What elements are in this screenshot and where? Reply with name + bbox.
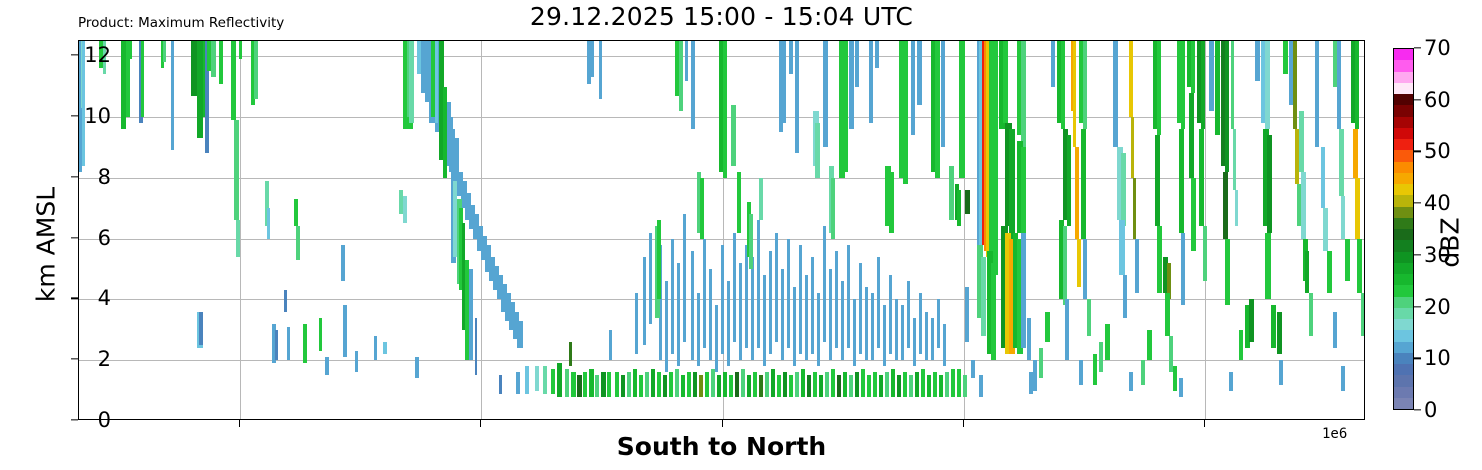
y-tick-label: 10 [84, 104, 111, 128]
reflectivity-cell [841, 281, 844, 360]
reflectivity-cell [715, 305, 718, 372]
y-tick-mark [71, 359, 78, 360]
reflectivity-cell [877, 257, 880, 348]
reflectivity-cell [751, 257, 754, 360]
reflectivity-cell [303, 324, 307, 364]
reflectivity-cell [516, 372, 520, 393]
reflectivity-cell [1225, 239, 1230, 306]
reflectivity-cell [415, 357, 419, 378]
reflectivity-cell [849, 375, 853, 396]
reflectivity-cell [721, 245, 724, 354]
reflectivity-cell [691, 251, 694, 360]
reflectivity-cell [1051, 41, 1055, 87]
reflectivity-cell [1065, 299, 1069, 360]
reflectivity-cell [1265, 233, 1271, 300]
reflectivity-cell [917, 41, 922, 105]
reflectivity-cell [911, 41, 915, 135]
colorbar-tick-mark [1414, 358, 1421, 359]
colorbar-segment [1394, 194, 1413, 206]
reflectivity-cell [583, 372, 587, 396]
y-tick-label: 4 [98, 286, 111, 310]
reflectivity-cell [1155, 135, 1160, 226]
reflectivity-cell [1215, 41, 1220, 135]
reflectivity-cell [1093, 354, 1097, 384]
page-title: 29.12.2025 15:00 - 15:04 UTC [78, 2, 1365, 31]
reflectivity-cell [129, 41, 132, 59]
colorbar-segment [1394, 329, 1413, 341]
x-tick-mark [722, 420, 723, 427]
reflectivity-cell [1129, 41, 1133, 117]
reflectivity-cell [727, 281, 730, 366]
reflectivity-cell [681, 375, 685, 396]
reflectivity-cell [737, 172, 741, 233]
reflectivity-cell [835, 251, 838, 348]
reflectivity-cell [1067, 135, 1071, 226]
reflectivity-cell [383, 342, 387, 354]
reflectivity-cell [657, 220, 661, 299]
reflectivity-cell [1239, 330, 1243, 360]
reflectivity-cell [865, 287, 868, 360]
reflectivity-cell [933, 372, 937, 396]
reflectivity-cell [234, 120, 239, 220]
colorbar-segment [1394, 363, 1413, 375]
reflectivity-cell [889, 172, 894, 233]
colorbar-segment [1394, 307, 1413, 319]
reflectivity-cell [517, 321, 523, 348]
colorbar-tick-label: 10 [1424, 346, 1451, 370]
reflectivity-cell [1361, 293, 1365, 336]
reflectivity-cell [829, 269, 832, 360]
reflectivity-cell [745, 245, 748, 348]
reflectivity-cell [759, 178, 763, 221]
x-tick-mark [239, 420, 240, 427]
reflectivity-cell [1323, 208, 1328, 251]
reflectivity-cell [753, 372, 757, 396]
reflectivity-cell [254, 41, 258, 99]
reflectivity-cell [1087, 299, 1091, 335]
reflectivity-cell [951, 369, 955, 396]
reflectivity-cell [1099, 342, 1103, 372]
colorbar-segment [1394, 149, 1413, 161]
reflectivity-cell [294, 199, 298, 226]
reflectivity-cell [945, 372, 949, 396]
reflectivity-cell [1009, 129, 1015, 238]
x-axis-label: South to North [78, 432, 1365, 461]
reflectivity-cell [1301, 172, 1306, 239]
colorbar-segment [1394, 48, 1413, 60]
colorbar-segment [1394, 295, 1413, 307]
reflectivity-cell [959, 41, 965, 178]
reflectivity-cell [1181, 233, 1185, 306]
reflectivity-cell [267, 208, 270, 238]
colorbar-segment [1394, 385, 1413, 397]
reflectivity-cell [236, 220, 240, 256]
reflectivity-cell [805, 275, 808, 360]
reflectivity-cell [981, 257, 986, 336]
reflectivity-cell [855, 372, 859, 396]
reflectivity-cell [879, 375, 883, 396]
reflectivity-cell [1021, 41, 1026, 147]
reflectivity-cell [669, 372, 673, 396]
reflectivity-cell [957, 190, 961, 226]
reflectivity-cell [609, 330, 612, 360]
reflectivity-cell [601, 372, 606, 396]
reflectivity-cell [949, 166, 954, 221]
reflectivity-cell [993, 41, 998, 275]
reflectivity-cell [607, 372, 611, 396]
reflectivity-cell [831, 178, 835, 239]
colorbar-segment [1394, 93, 1413, 105]
reflectivity-cell [859, 263, 862, 354]
reflectivity-cell [979, 375, 983, 396]
reflectivity-cell [599, 41, 602, 99]
reflectivity-cell [1073, 41, 1076, 147]
reflectivity-cell [665, 281, 668, 372]
reflectivity-cell [781, 269, 784, 360]
reflectivity-cell [757, 220, 760, 348]
colorbar-segment [1394, 318, 1413, 330]
reflectivity-cell [1033, 360, 1037, 390]
reflectivity-cell [1209, 41, 1214, 111]
reflectivity-cell [296, 226, 300, 259]
reflectivity-cell [793, 287, 796, 366]
reflectivity-cell [849, 41, 854, 129]
colorbar-segment [1394, 138, 1413, 150]
reflectivity-cell [643, 257, 646, 345]
colorbar-segment [1394, 228, 1413, 240]
colorbar-segment [1394, 205, 1413, 217]
reflectivity-cell [1333, 312, 1337, 348]
colorbar-segment [1394, 59, 1413, 71]
reflectivity-cell [1191, 41, 1195, 93]
reflectivity-cell [903, 372, 907, 396]
reflectivity-cell [1147, 330, 1152, 360]
reflectivity-cell [1199, 129, 1204, 226]
reflectivity-cell [633, 369, 637, 396]
reflectivity-cell [1027, 318, 1031, 361]
reflectivity-cell [699, 375, 703, 396]
reflectivity-cell [935, 41, 940, 178]
reflectivity-cell [435, 41, 438, 123]
reflectivity-cell [1029, 372, 1033, 393]
reflectivity-cell [569, 342, 572, 366]
y-tick-label: 8 [98, 165, 111, 189]
reflectivity-cell [783, 41, 786, 123]
reflectivity-cell [1179, 129, 1184, 232]
reflectivity-cell [219, 41, 223, 84]
colorbar-segment [1394, 397, 1413, 409]
reflectivity-cell [1189, 93, 1194, 178]
reflectivity-cell [771, 369, 775, 396]
reflectivity-cell [287, 327, 290, 360]
reflectivity-cell [919, 293, 922, 354]
y-tick-label: 0 [98, 408, 111, 432]
reflectivity-cell [1265, 41, 1270, 129]
reflectivity-cell [475, 318, 477, 376]
colorbar-segment [1394, 82, 1413, 94]
reflectivity-cell [901, 305, 904, 360]
colorbar-tick-mark [1414, 254, 1421, 255]
reflectivity-cell [1201, 41, 1205, 129]
reflectivity-cell [1075, 147, 1079, 238]
reflectivity-cell [965, 190, 970, 214]
reflectivity-cell [231, 41, 236, 120]
reflectivity-cell [811, 257, 814, 354]
reflectivity-cell [341, 245, 345, 281]
reflectivity-cell [1315, 41, 1319, 147]
reflectivity-cell [903, 41, 908, 184]
reflectivity-cell [1157, 226, 1162, 293]
reflectivity-cell [355, 351, 358, 372]
reflectivity-cell [733, 233, 736, 342]
colorbar-segment [1394, 127, 1413, 139]
reflectivity-cell [711, 369, 715, 396]
reflectivity-cell [1077, 239, 1081, 288]
reflectivity-cell [789, 41, 793, 74]
reflectivity-cell [663, 375, 667, 396]
reflectivity-cell [939, 375, 943, 396]
y-tick-mark [71, 298, 78, 299]
reflectivity-cell [1113, 41, 1118, 147]
x-tick-mark [1204, 420, 1205, 427]
reflectivity-cell [171, 41, 174, 150]
colorbar-tick-mark [1414, 306, 1421, 307]
reflectivity-cell [565, 369, 569, 396]
reflectivity-cell [469, 269, 473, 360]
reflectivity-cell [1353, 129, 1358, 178]
reflectivity-cell [1045, 312, 1050, 342]
reflectivity-cell [731, 105, 736, 166]
reflectivity-cell [687, 372, 691, 396]
reflectivity-cell [621, 375, 625, 396]
reflectivity-cell [1135, 239, 1139, 294]
colorbar-tick-label: 50 [1424, 139, 1451, 163]
reflectivity-cell [1063, 226, 1067, 305]
reflectivity-cell [941, 41, 945, 147]
reflectivity-cell [535, 366, 539, 390]
y-tick-mark [71, 176, 78, 177]
reflectivity-cell [819, 375, 823, 396]
y-tick-mark [71, 237, 78, 238]
reflectivity-cell [1119, 220, 1125, 275]
reflectivity-cell [817, 293, 820, 366]
reflectivity-cell [591, 41, 594, 77]
reflectivity-cell [705, 372, 709, 396]
reflectivity-cell [913, 318, 916, 367]
radar-reflectivity-figure: Product: Maximum Reflectivity 29.12.2025… [0, 0, 1482, 470]
x-tick-mark [963, 420, 964, 427]
reflectivity-cell [275, 330, 278, 360]
reflectivity-cell [843, 372, 847, 396]
reflectivity-cell [869, 41, 873, 123]
reflectivity-cell [649, 233, 652, 324]
reflectivity-cell [871, 293, 874, 360]
colorbar-tick-mark [1414, 409, 1421, 410]
reflectivity-cell [885, 372, 889, 396]
reflectivity-cell [739, 263, 742, 360]
reflectivity-cell [1299, 111, 1304, 172]
reflectivity-cell [525, 366, 529, 393]
reflectivity-cell [685, 41, 688, 81]
reflectivity-cell [777, 375, 781, 396]
reflectivity-cell [679, 41, 683, 111]
reflectivity-cell [1173, 366, 1177, 390]
colorbar-segment [1394, 273, 1413, 285]
reflectivity-cell [325, 357, 329, 375]
reflectivity-cell [1321, 147, 1325, 208]
reflectivity-cell [1357, 239, 1362, 294]
reflectivity-cell [700, 178, 704, 239]
colorbar-segment [1394, 352, 1413, 364]
reflectivity-cell [873, 372, 877, 396]
reflectivity-cell [577, 375, 582, 396]
reflectivity-cell [729, 375, 733, 396]
reflectivity-cell [1267, 135, 1272, 232]
reflectivity-cell [1003, 41, 1008, 123]
reflectivity-cell [823, 226, 826, 342]
reflectivity-cell [1229, 372, 1233, 390]
reflectivity-cell [965, 287, 969, 342]
reflectivity-cell [645, 372, 649, 396]
reflectivity-cell [895, 299, 898, 360]
colorbar-segment [1394, 262, 1413, 274]
reflectivity-cell [1341, 366, 1345, 390]
reflectivity-cell [787, 239, 790, 348]
colorbar-tick-label: 20 [1424, 295, 1451, 319]
reflectivity-cell [319, 318, 322, 351]
reflectivity-cell [1179, 378, 1183, 396]
reflectivity-cell [1225, 41, 1229, 172]
colorbar-segment [1394, 160, 1413, 172]
colorbar-segment [1394, 250, 1413, 262]
colorbar-tick-mark [1414, 202, 1421, 203]
reflectivity-cell [735, 372, 739, 396]
reflectivity-cell [783, 372, 787, 396]
reflectivity-cell [991, 263, 996, 360]
reflectivity-cell [1283, 41, 1288, 74]
reflectivity-cell [199, 312, 203, 345]
reflectivity-cell [443, 87, 447, 178]
reflectivity-cell [769, 251, 772, 354]
reflectivity-cell [921, 369, 925, 396]
reflectivity-cell [723, 41, 727, 178]
reflectivity-cell [831, 369, 835, 396]
reflectivity-cell [693, 372, 697, 396]
reflectivity-cell [403, 196, 407, 223]
reflectivity-cell [211, 41, 216, 77]
reflectivity-cell [615, 372, 619, 396]
reflectivity-cell [749, 214, 753, 269]
plot-area [78, 40, 1365, 420]
reflectivity-cell [1255, 41, 1260, 81]
y-tick-label: 12 [84, 43, 111, 67]
reflectivity-cell [639, 375, 643, 396]
reflectivity-cell [675, 369, 679, 396]
reflectivity-cell [1039, 348, 1043, 378]
reflectivity-cell [239, 41, 242, 59]
reflectivity-cell [763, 275, 766, 366]
reflectivity-cell [837, 375, 841, 396]
reflectivity-cell [1141, 360, 1145, 384]
reflectivity-cell [847, 245, 850, 348]
reflectivity-cell [891, 369, 895, 396]
reflectivity-cell [883, 305, 886, 366]
reflectivity-cell [855, 41, 859, 87]
reflectivity-cell [1021, 147, 1026, 238]
reflectivity-cell [927, 375, 931, 396]
reflectivity-cell [163, 41, 166, 62]
reflectivity-cell [651, 369, 655, 396]
reflectivity-cell [925, 312, 928, 361]
reflectivity-cell [775, 233, 778, 342]
reflectivity-cell [1271, 305, 1276, 348]
reflectivity-cell [1191, 178, 1196, 251]
colorbar-tick-label: 70 [1424, 36, 1451, 60]
reflectivity-cell [543, 366, 547, 393]
reflectivity-cell [1345, 239, 1350, 282]
colorbar [1393, 48, 1414, 410]
reflectivity-cell [697, 293, 700, 366]
reflectivity-cell [627, 372, 631, 396]
reflectivity-cell [867, 375, 871, 396]
colorbar-segment [1394, 374, 1413, 386]
reflectivity-cell [1021, 233, 1026, 349]
reflectivity-cell [571, 372, 576, 396]
y-tick-mark [71, 419, 78, 420]
y-tick-label: 2 [98, 347, 111, 371]
y-tick-label: 6 [98, 226, 111, 250]
colorbar-segment [1394, 115, 1413, 127]
reflectivity-cells [79, 41, 1364, 419]
reflectivity-cell [889, 275, 892, 354]
reflectivity-cell [963, 375, 967, 396]
reflectivity-cell [1105, 324, 1110, 360]
colorbar-tick-mark [1414, 151, 1421, 152]
reflectivity-cell [789, 375, 793, 396]
reflectivity-cell [343, 305, 347, 357]
reflectivity-cell [1083, 239, 1087, 300]
reflectivity-cell [1231, 41, 1234, 129]
colorbar-tick-label: 40 [1424, 191, 1451, 215]
x-axis-exponent: 1e6 [1322, 426, 1347, 442]
reflectivity-cell [677, 263, 680, 366]
reflectivity-cell [795, 41, 799, 153]
colorbar-segment [1394, 70, 1413, 82]
reflectivity-cell [409, 41, 414, 123]
reflectivity-cell [723, 372, 727, 396]
reflectivity-cell [671, 239, 674, 355]
reflectivity-cell [813, 372, 817, 396]
y-axis-label: km AMSL [32, 115, 61, 375]
reflectivity-cell [683, 214, 686, 342]
reflectivity-cell [799, 245, 802, 354]
reflectivity-cell [374, 336, 377, 360]
reflectivity-cell [765, 372, 769, 396]
reflectivity-cell [595, 375, 599, 396]
reflectivity-cell [635, 293, 638, 354]
x-tick-mark [480, 420, 481, 427]
colorbar-tick-label: 30 [1424, 243, 1451, 267]
reflectivity-cell [1235, 190, 1238, 226]
reflectivity-cell [909, 375, 913, 396]
reflectivity-cell [1337, 41, 1341, 129]
reflectivity-cell [284, 290, 287, 311]
colorbar-segment [1394, 104, 1413, 116]
reflectivity-cell [937, 299, 940, 348]
colorbar-segment [1394, 217, 1413, 229]
y-tick-mark [71, 55, 78, 56]
reflectivity-cell [1339, 129, 1344, 196]
